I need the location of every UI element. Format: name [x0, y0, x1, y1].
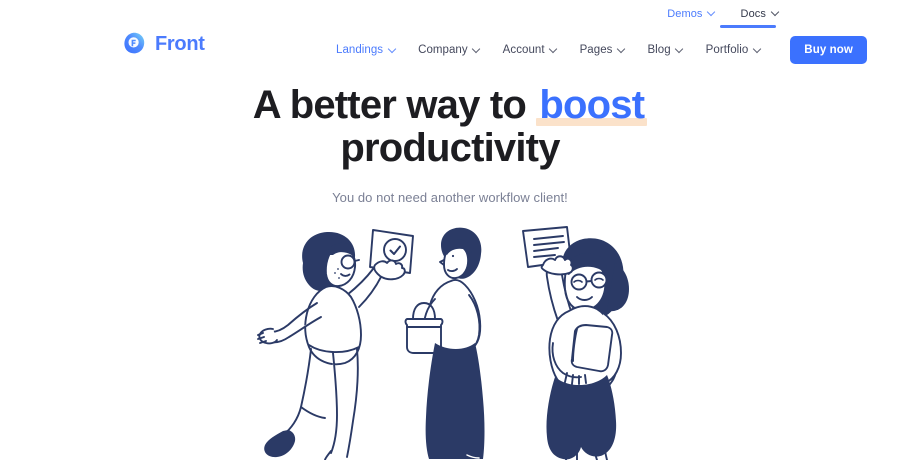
- chevron-down-icon: [708, 9, 715, 16]
- toplink-demos-label: Demos: [667, 8, 702, 20]
- nav-item-blog[interactable]: Blog: [647, 44, 682, 56]
- nav-item-portfolio[interactable]: Portfolio: [706, 44, 761, 56]
- chevron-down-icon: [676, 46, 683, 53]
- chevron-down-icon: [753, 46, 760, 53]
- main-navigation-bar: Front Landings Company Account Pages Blo…: [0, 27, 900, 72]
- nav-item-pages-label: Pages: [580, 44, 613, 56]
- toplink-docs[interactable]: Docs: [741, 8, 778, 20]
- brand-logo[interactable]: Front: [122, 31, 205, 56]
- nav-item-account[interactable]: Account: [503, 44, 557, 56]
- nav-item-company[interactable]: Company: [418, 44, 480, 56]
- nav-links: Landings Company Account Pages Blog Port…: [336, 36, 867, 64]
- page-title: A better way to boost productivity: [0, 84, 900, 170]
- buy-now-button[interactable]: Buy now: [790, 36, 867, 64]
- toplink-demos[interactable]: Demos: [667, 8, 714, 20]
- nav-item-landings[interactable]: Landings: [336, 44, 395, 56]
- top-utility-bar: Demos Docs: [0, 0, 900, 27]
- hero-section: A better way to boost productivity You d…: [0, 84, 900, 205]
- hero-title-line1-prefix: A better way to: [253, 83, 537, 127]
- nav-item-portfolio-label: Portfolio: [706, 44, 749, 56]
- toplink-docs-label: Docs: [741, 8, 766, 20]
- chevron-down-icon: [388, 46, 395, 53]
- chevron-down-icon: [617, 46, 624, 53]
- nav-item-account-label: Account: [503, 44, 545, 56]
- hero-title-line2: productivity: [340, 126, 559, 170]
- three-people-holding-documents-illustration: [255, 225, 665, 460]
- chevron-down-icon: [473, 46, 480, 53]
- hero-title-highlight: boost: [536, 84, 647, 127]
- nav-item-company-label: Company: [418, 44, 468, 56]
- brand-name: Front: [155, 34, 205, 54]
- nav-item-blog-label: Blog: [647, 44, 670, 56]
- nav-item-landings-label: Landings: [336, 44, 383, 56]
- hero-subtitle: You do not need another workflow client!: [0, 190, 900, 205]
- front-droplet-logo-icon: [122, 31, 147, 56]
- nav-item-pages[interactable]: Pages: [580, 44, 625, 56]
- landing-page: Demos Docs: [0, 0, 900, 460]
- chevron-down-icon: [771, 9, 778, 16]
- chevron-down-icon: [550, 46, 557, 53]
